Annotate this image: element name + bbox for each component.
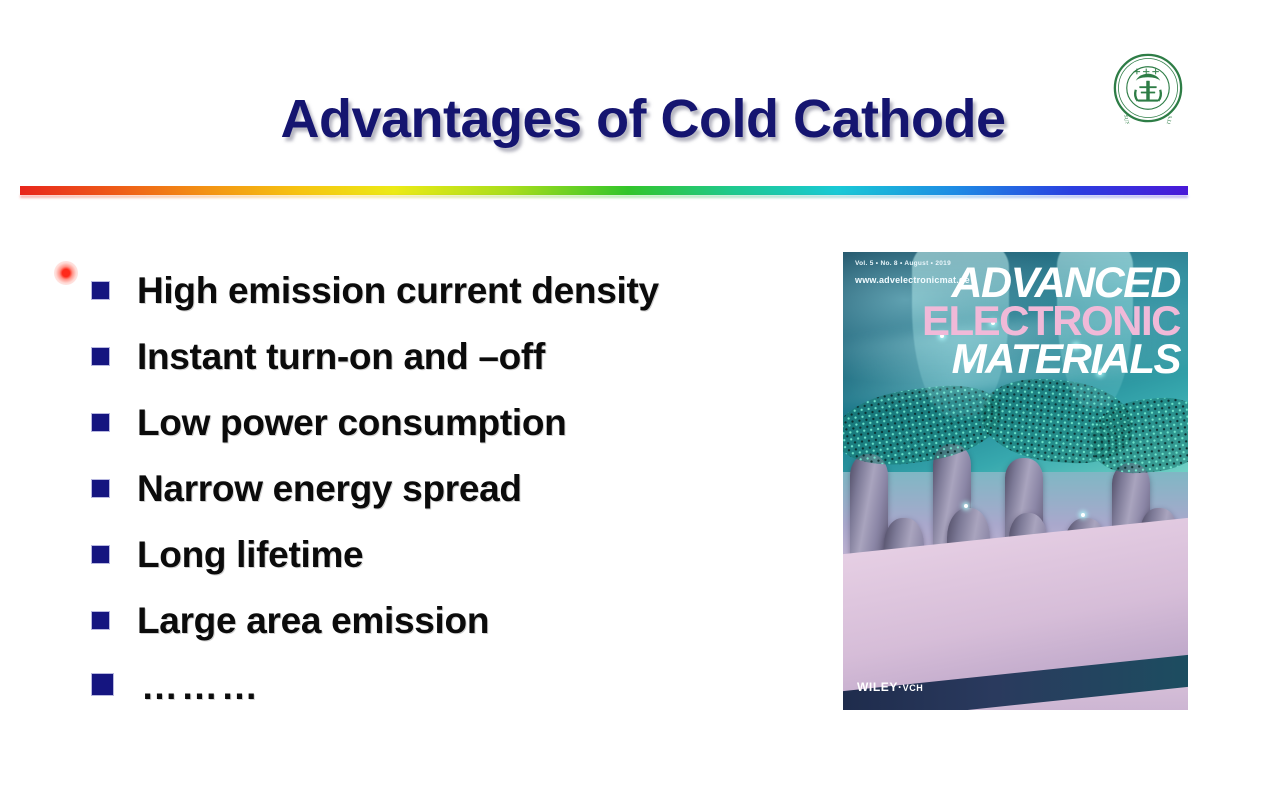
journal-cover-image: Vol. 5 • No. 8 • August • 2019 www.advel… — [843, 252, 1188, 710]
publisher-suffix: VCH — [903, 683, 924, 693]
bullet-square-icon — [92, 348, 109, 365]
list-item: Instant turn-on and –off — [92, 334, 822, 400]
cover-volume-line: Vol. 5 • No. 8 • August • 2019 — [855, 260, 951, 267]
list-item-label: Narrow energy spread — [137, 466, 522, 512]
list-item-label: Instant turn-on and –off — [137, 334, 545, 380]
emission-spark — [964, 504, 968, 508]
list-item: Large area emission — [92, 598, 822, 664]
publisher-name: WILEY· — [857, 680, 903, 694]
bullet-square-icon — [92, 480, 109, 497]
list-item: Long lifetime — [92, 532, 822, 598]
list-item: ……… — [92, 664, 822, 730]
list-item-label: Long lifetime — [137, 532, 363, 578]
cover-masthead: Vol. 5 • No. 8 • August • 2019 www.advel… — [843, 252, 1188, 259]
rainbow-divider-bar — [20, 186, 1188, 195]
bullet-square-icon — [92, 546, 109, 563]
list-item-label: High emission current density — [137, 268, 659, 314]
cover-title-line-3: MATERIALS — [952, 340, 1180, 379]
bullet-square-icon — [92, 612, 109, 629]
presentation-slide: SUN YAT-SEN UNIVERSITY Advantages of Col… — [0, 0, 1286, 800]
bullet-square-icon — [92, 414, 109, 431]
list-item: Low power consumption — [92, 400, 822, 466]
bullet-square-icon — [92, 282, 109, 299]
list-item-label: ……… — [141, 664, 261, 710]
advantages-bullet-list: High emission current density Instant tu… — [92, 268, 822, 730]
laser-pointer-dot — [54, 261, 78, 285]
list-item: High emission current density — [92, 268, 822, 334]
list-item-label: Low power consumption — [137, 400, 566, 446]
bullet-square-icon — [92, 674, 113, 695]
cover-publisher-logo: WILEY·VCH — [857, 680, 923, 694]
slide-title: Advantages of Cold Cathode — [0, 88, 1286, 150]
list-item-label: Large area emission — [137, 598, 489, 644]
list-item: Narrow energy spread — [92, 466, 822, 532]
